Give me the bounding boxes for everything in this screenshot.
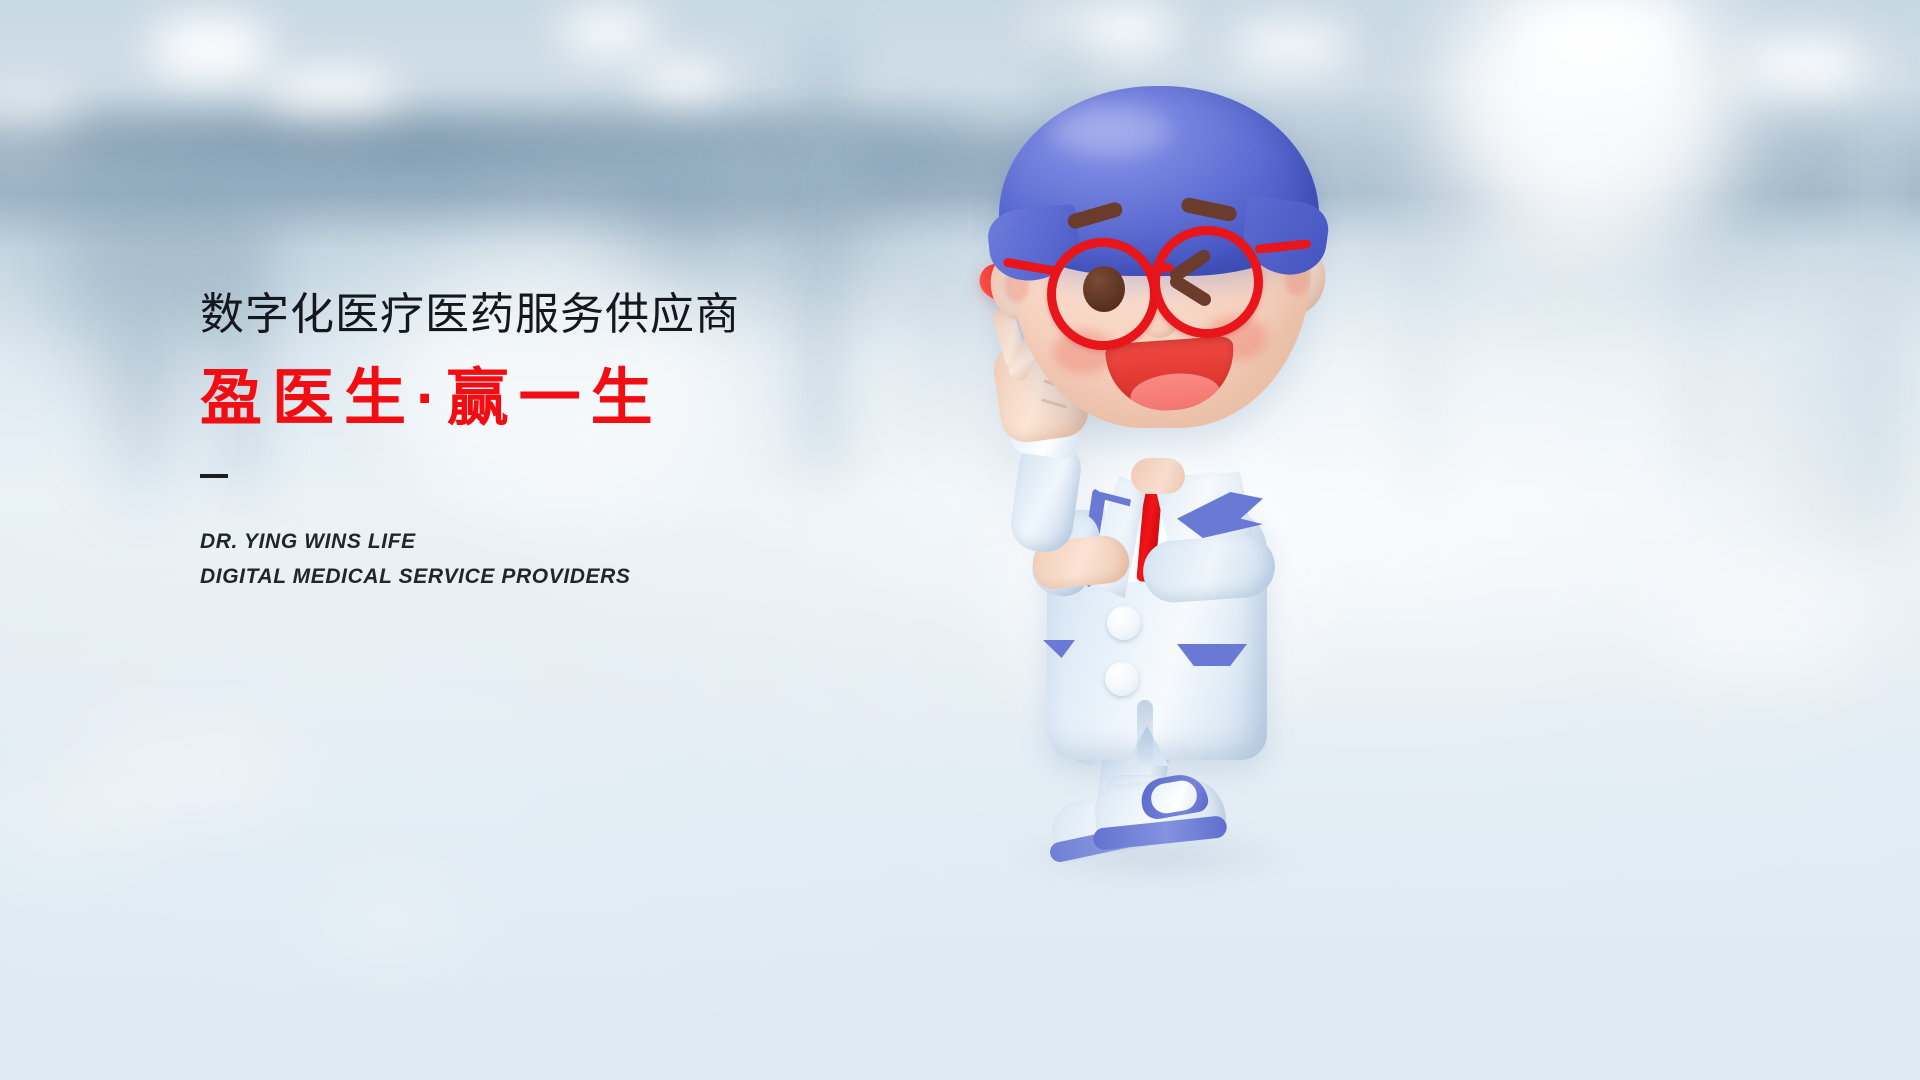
floor-highlight	[0, 800, 160, 854]
coat-button	[1105, 662, 1139, 696]
subtitle-english: DR. YING WINS LIFE DIGITAL MEDICAL SERVI…	[200, 524, 920, 595]
slogan: 盈医生·赢一生	[200, 363, 920, 434]
floor-highlight	[300, 890, 480, 950]
cap-highlight	[1051, 106, 1171, 156]
doctor-mascot-illustration	[955, 40, 1375, 870]
neck	[1131, 458, 1185, 494]
floor-highlight	[1650, 560, 1870, 680]
coat-button	[1107, 606, 1141, 640]
hero-text-block: 数字化医疗医药服务供应商 盈医生·赢一生 DR. YING WINS LIFE …	[200, 289, 920, 595]
subtitle-line-1: DR. YING WINS LIFE	[200, 524, 920, 559]
page-title: 数字化医疗医药服务供应商	[200, 289, 920, 341]
coat-split	[1137, 700, 1153, 764]
glasses-lens-left	[1047, 238, 1159, 350]
hero-banner: 数字化医疗医药服务供应商 盈医生·赢一生 DR. YING WINS LIFE …	[0, 0, 1920, 1080]
subtitle-line-2: DIGITAL MEDICAL SERVICE PROVIDERS	[200, 559, 920, 594]
arm-right	[1141, 533, 1277, 604]
divider	[200, 474, 228, 478]
floor-highlight	[70, 742, 300, 802]
glasses-lens-right	[1151, 226, 1263, 338]
